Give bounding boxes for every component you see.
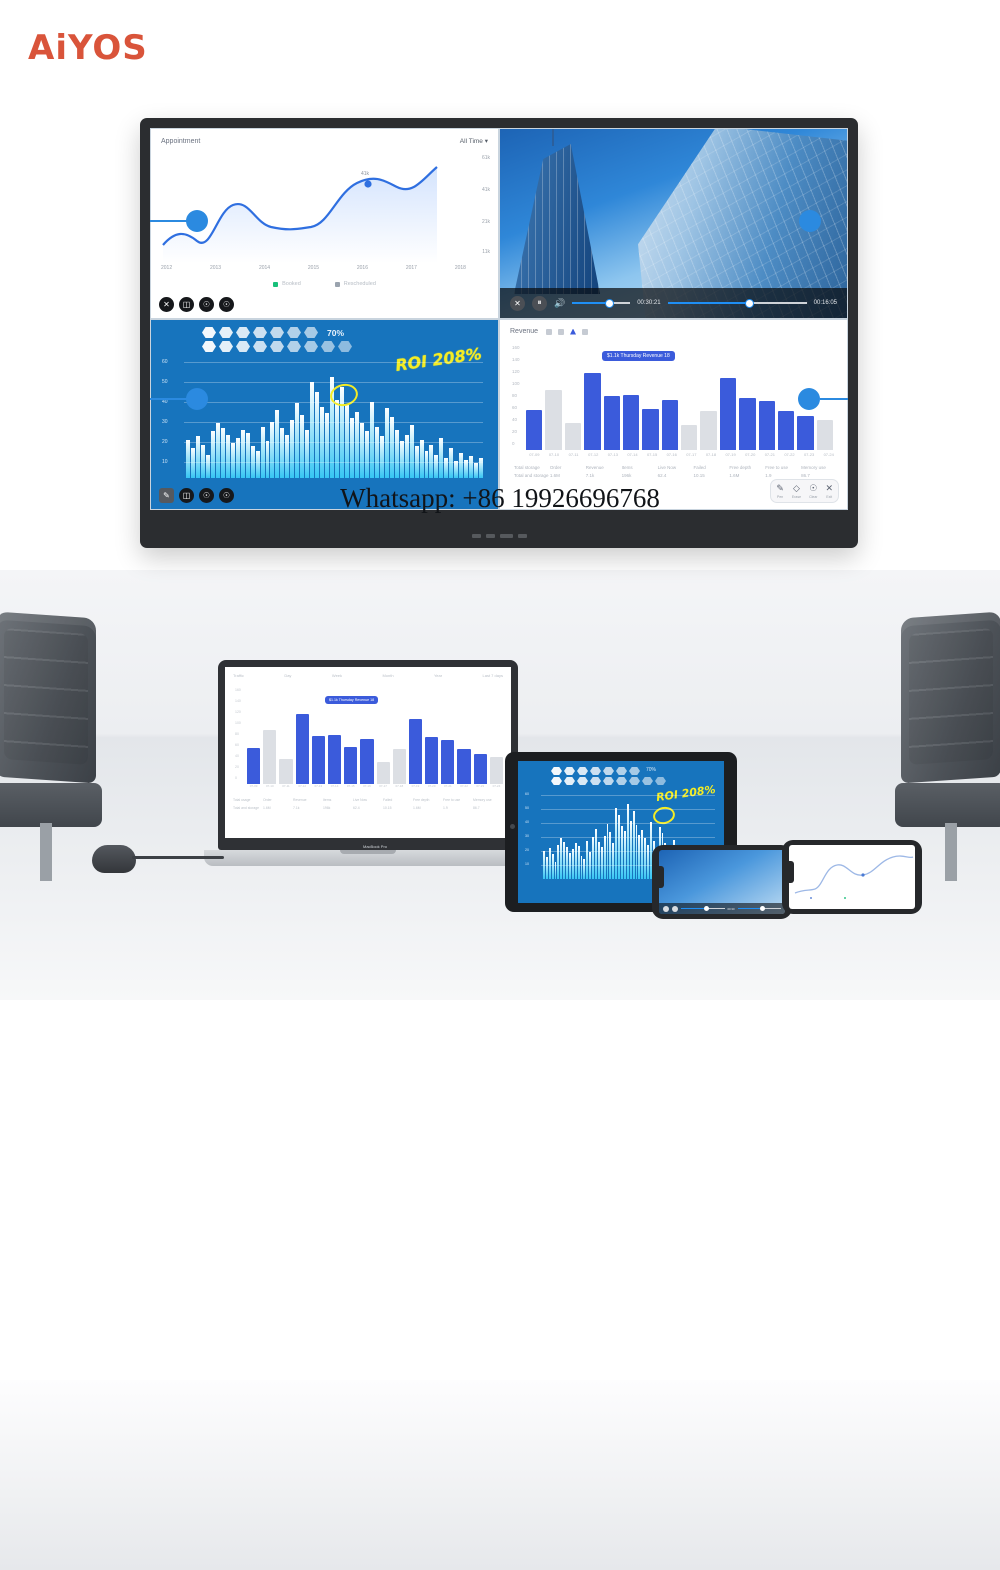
- laptop-revenue-bar: [360, 739, 373, 784]
- revenue-bar: [662, 400, 678, 450]
- laptop-y-tick: 160: [235, 688, 241, 692]
- legend-swatch-rescheduled: [335, 282, 340, 287]
- laptop-footer-label: Total usage: [233, 798, 263, 802]
- tablet-hex-row-bottom: [551, 777, 717, 785]
- phone-video-controls[interactable]: 00:30: [659, 903, 785, 914]
- roi-bar: [449, 448, 453, 478]
- pie-chart-icon[interactable]: [546, 329, 552, 335]
- roi-percent-label: 70%: [646, 767, 656, 775]
- roi-bar: [315, 392, 319, 478]
- x-tick: 2018: [455, 265, 466, 271]
- seek-knob[interactable]: [745, 299, 754, 308]
- tablet-roi-bar: [644, 838, 646, 879]
- phone-seek-slider[interactable]: [738, 908, 782, 910]
- chair-post: [40, 823, 52, 881]
- revenue-footer-label: Live Now: [658, 465, 694, 470]
- phone-notch: [789, 861, 794, 883]
- roi-bar: [256, 451, 260, 478]
- x-tick: 2016: [357, 265, 368, 271]
- laptop-revenue-bar: [490, 757, 503, 784]
- roi-bar: [390, 417, 394, 478]
- roi-plot: 605040302010: [160, 358, 489, 478]
- hex-cell: [642, 777, 653, 785]
- tablet-y-tick: 50: [525, 806, 529, 810]
- bezel-button[interactable]: [486, 534, 495, 538]
- office-chair-left: [0, 615, 102, 885]
- tablet-y-tick: 60: [525, 792, 529, 796]
- roi-bar: [266, 441, 270, 478]
- revenue-x-tick: 07-10: [546, 452, 563, 457]
- hex-cell: [236, 341, 250, 352]
- roi-bar: [474, 463, 478, 478]
- laptop-y-tick: 40: [235, 754, 239, 758]
- seek-fill: [738, 908, 762, 910]
- hex-cell: [655, 777, 666, 785]
- roi-bar: [206, 455, 210, 478]
- revenue-x-tick: 07-21: [762, 452, 779, 457]
- laptop-device[interactable]: Traffic Day Week Month Year Last 7 days …: [218, 660, 518, 850]
- laptop-footer-value-row: Total and storage1.6M7.1k196k62.410.151.…: [233, 806, 503, 810]
- tablet-roi-bar: [609, 832, 611, 879]
- hex-cell: [287, 341, 301, 352]
- legend-swatch-booked: [273, 282, 278, 287]
- roi-bar: [434, 455, 438, 478]
- laptop-x-tick: 07-10: [263, 784, 276, 788]
- antenna-image: [552, 128, 554, 146]
- roi-bar: [295, 403, 299, 478]
- laptop-footer-value: Total and storage: [233, 806, 263, 810]
- callout-dot: [799, 210, 821, 232]
- panel-screen[interactable]: Appointment All Time ▾ 41k: [150, 128, 848, 510]
- tablet-roi-bar: [598, 842, 600, 879]
- hex-cell: [202, 327, 216, 338]
- hex-cell: [270, 327, 284, 338]
- roi-gridline: [184, 402, 483, 403]
- laptop-footer-table: Total usageOrderRevenueItemsLive NowFail…: [233, 798, 503, 810]
- hex-cell: [603, 767, 614, 775]
- revenue-bar: [797, 416, 813, 450]
- tablet-roi-bar: [560, 838, 562, 879]
- laptop-revenue-bar: [409, 719, 422, 784]
- tablet-roi-bar: [546, 857, 548, 879]
- laptop-revenue-bar: [457, 749, 470, 784]
- appointment-window-toolbar[interactable]: ✕ ◫ ☉ ☉: [159, 297, 234, 312]
- laptop-lid: Traffic Day Week Month Year Last 7 days …: [218, 660, 518, 850]
- laptop-y-tick: 140: [235, 699, 241, 703]
- laptop-x-tick: 07-19: [409, 784, 422, 788]
- tablet-roi-bar: [612, 843, 614, 879]
- speaker-icon[interactable]: 🔊: [554, 298, 565, 309]
- phone-notch: [659, 866, 664, 888]
- revenue-footer-table: Total storageOrderRevenueItemsLive NowFa…: [514, 465, 837, 478]
- revenue-footer-value: 1.6M: [550, 473, 586, 478]
- roi-bar: [310, 382, 314, 478]
- volume-fill: [572, 302, 608, 304]
- tablet-roi-bar: [638, 835, 640, 879]
- laptop-footer-label: Free to use: [443, 798, 473, 802]
- hex-cell: [287, 327, 301, 338]
- video-total-time: 00:16:05: [814, 300, 837, 306]
- laptop-footer-value: 1.6M: [413, 806, 443, 810]
- revenue-x-tick: 07-15: [644, 452, 661, 457]
- revenue-footer-value: 196k: [622, 473, 658, 478]
- footer-value-row: Total and storage1.6M7.1k196k62.410.151.…: [514, 473, 837, 478]
- roi-gridline: [184, 382, 483, 383]
- tablet-roi-bar: [581, 856, 583, 879]
- revenue-y-tick: 40: [512, 417, 517, 422]
- laptop-x-tick: 07-09: [247, 784, 260, 788]
- appointment-highlight-point: [364, 180, 371, 187]
- roi-bar: [365, 431, 369, 478]
- laptop-revenue-bar: [393, 749, 406, 784]
- revenue-y-tick: 160: [512, 345, 520, 350]
- roi-bars: [186, 358, 483, 478]
- bezel-button[interactable]: [518, 534, 527, 538]
- callout-top-left: [150, 208, 220, 234]
- revenue-footer-value: 1.9: [765, 473, 801, 478]
- volume-knob[interactable]: [605, 299, 614, 308]
- appointment-header: Appointment All Time ▾: [161, 137, 488, 145]
- revenue-x-tick: 07-14: [624, 452, 641, 457]
- bezel-button-power[interactable]: [500, 534, 513, 538]
- tablet-y-tick: 40: [525, 820, 529, 824]
- roi-y-tick: 20: [162, 439, 168, 445]
- legend-item-rescheduled: Rescheduled: [335, 281, 376, 287]
- laptop-header-tabs[interactable]: Day: [284, 673, 291, 678]
- tablet-y-tick: 10: [525, 862, 529, 866]
- roi-bar: [425, 451, 429, 478]
- roi-bar: [300, 415, 304, 478]
- revenue-x-tick: 07-13: [605, 452, 622, 457]
- revenue-x-tick: 07-12: [585, 452, 602, 457]
- pause-icon[interactable]: [672, 906, 678, 912]
- phone-video-screen[interactable]: 00:30: [659, 850, 785, 914]
- roi-gridline: [184, 362, 483, 363]
- phone-chart-device[interactable]: [782, 840, 922, 914]
- table-icon[interactable]: [582, 329, 588, 335]
- quadrant-revenue-dashboard[interactable]: Revenue $1.1k Thursday Revenue 18 160140…: [499, 319, 848, 510]
- pause-button[interactable]: ⏸: [532, 296, 547, 311]
- hex-cell: [202, 341, 216, 352]
- laptop-revenue-bar: [263, 730, 276, 784]
- roi-y-tick: 60: [162, 359, 168, 365]
- panel-bezel-controls[interactable]: [150, 528, 848, 544]
- tablet-home-button[interactable]: [510, 824, 515, 829]
- revenue-footer-label: Free to use: [765, 465, 801, 470]
- time-range-dropdown[interactable]: All Time ▾: [460, 137, 488, 145]
- laptop-y-tick: 60: [235, 743, 239, 747]
- x-tick: 2014: [259, 265, 270, 271]
- revenue-x-tick: 07-23: [801, 452, 818, 457]
- tablet-roi-bar: [624, 831, 626, 879]
- laptop-dashboard-header: Traffic Day Week Month Year Last 7 days: [233, 673, 503, 678]
- revenue-bar: [545, 390, 561, 450]
- appointment-point-label: 41k: [361, 171, 370, 177]
- revenue-bars: [526, 345, 833, 450]
- hex-cell: [564, 777, 575, 785]
- tablet-hex-row-top: 70%: [551, 767, 717, 775]
- hex-cell: [304, 341, 318, 352]
- volume-knob[interactable]: [704, 906, 709, 911]
- revenue-x-axis: 07-0907-1007-1107-1207-1307-1407-1507-16…: [526, 452, 837, 457]
- roi-bar: [400, 441, 404, 478]
- laptop-header-range[interactable]: Last 7 days: [483, 673, 503, 678]
- tablet-roi-bar: [552, 854, 554, 879]
- chair-post: [945, 823, 957, 881]
- phone-current-time: 00:30: [728, 907, 735, 911]
- roi-bar: [439, 438, 443, 478]
- line-chart-icon[interactable]: [558, 329, 564, 335]
- hex-cell: [603, 777, 614, 785]
- x-tick: 2017: [406, 265, 417, 271]
- hex-cell: [629, 767, 640, 775]
- revenue-bar: [778, 411, 794, 450]
- laptop-revenue-bar: [328, 735, 341, 785]
- revenue-y-tick: 100: [512, 381, 520, 386]
- footer-label-row: Total storageOrderRevenueItemsLive NowFa…: [514, 465, 837, 470]
- seek-knob[interactable]: [760, 906, 765, 911]
- laptop-footer-value: 10.15: [383, 806, 413, 810]
- roi-bar: [305, 430, 309, 478]
- laptop-header-tabs[interactable]: Week: [332, 673, 342, 678]
- laptop-plot: $1.1k Thursday Revenue 18 16014012010080…: [247, 688, 503, 784]
- laptop-header-tabs[interactable]: Year: [434, 673, 442, 678]
- brand-logo: AiYOS: [28, 28, 148, 68]
- volume-slider[interactable]: [572, 302, 630, 304]
- revenue-footer-value: Total and storage: [514, 473, 550, 478]
- hex-cell: [577, 777, 588, 785]
- roi-bar: [454, 461, 458, 478]
- roi-bar: [275, 410, 279, 478]
- roi-y-tick: 50: [162, 379, 168, 385]
- revenue-x-tick: 07-24: [820, 452, 837, 457]
- roi-bar: [385, 408, 389, 478]
- laptop-x-tick: 07-16: [360, 784, 373, 788]
- revenue-footer-value: 10.15: [693, 473, 729, 478]
- laptop-footer-label: Order: [263, 798, 293, 802]
- computer-mouse[interactable]: [92, 845, 136, 873]
- chair-seat: [0, 783, 102, 827]
- roi-gridline: [184, 462, 483, 463]
- hex-cell: [616, 777, 627, 785]
- y-tick-0: 61k: [482, 155, 490, 161]
- laptop-x-axis: 07-0907-1007-1107-1207-1307-1407-1507-16…: [247, 784, 503, 788]
- tablet-roi-bar: [586, 841, 588, 879]
- laptop-revenue-bar: [344, 747, 357, 784]
- hex-cell: [321, 341, 335, 352]
- revenue-bar: [565, 423, 581, 451]
- laptop-y-tick: 120: [235, 710, 241, 714]
- laptop-x-tick: 07-12: [296, 784, 309, 788]
- y-tick-1: 41k: [482, 187, 490, 193]
- laptop-revenue-bar: [377, 762, 390, 785]
- roi-bar: [261, 427, 265, 479]
- roi-bar: [370, 402, 374, 478]
- bezel-button[interactable]: [472, 534, 481, 538]
- laptop-header-tabs[interactable]: Month: [382, 673, 393, 678]
- callout-line: [820, 398, 848, 400]
- roi-bar: [469, 456, 473, 478]
- hex-cell: [270, 341, 284, 352]
- chair-seat: [895, 783, 1000, 827]
- tablet-roi-bar: [557, 845, 559, 879]
- tablet-roi-bar: [633, 811, 635, 879]
- laptop-x-tick: 07-18: [393, 784, 406, 788]
- tablet-roi-bar: [621, 826, 623, 879]
- hex-cell: [219, 341, 233, 352]
- revenue-y-tick: 120: [512, 369, 520, 374]
- roi-bar: [211, 431, 215, 478]
- revenue-tooltip: $1.1k Thursday Revenue 18: [602, 351, 675, 361]
- laptop-footer-value: 196k: [323, 806, 353, 810]
- roi-bar: [290, 420, 294, 478]
- laptop-x-tick: 07-14: [328, 784, 341, 788]
- zoom-in-icon[interactable]: ☉: [219, 297, 234, 312]
- laptop-footer-value: 7.1k: [293, 806, 323, 810]
- revenue-footer-value: 86.7: [801, 473, 837, 478]
- revenue-x-tick: 07-09: [526, 452, 543, 457]
- laptop-footer-label: Revenue: [293, 798, 323, 802]
- hex-cell: [253, 327, 267, 338]
- roi-y-tick: 10: [162, 459, 168, 465]
- close-icon[interactable]: [663, 906, 669, 912]
- chart-type-switcher[interactable]: [546, 329, 588, 335]
- laptop-footer-value: 62.4: [353, 806, 383, 810]
- seek-fill: [668, 302, 749, 304]
- revenue-footer-label: Free depth: [729, 465, 765, 470]
- laptop-revenue-bar: [296, 714, 309, 784]
- phone-line-chart-svg: [789, 845, 915, 909]
- revenue-title: Revenue: [510, 328, 538, 335]
- laptop-x-tick: 07-11: [279, 784, 292, 788]
- zoom-out-icon[interactable]: ☉: [199, 297, 214, 312]
- laptop-footer-value: 1.6M: [263, 806, 293, 810]
- legend-label: Booked: [282, 281, 301, 287]
- time-range-label: All Time: [460, 138, 483, 145]
- revenue-footer-value: 7.1k: [586, 473, 622, 478]
- roi-bar: [410, 425, 414, 478]
- revenue-y-tick: 140: [512, 357, 520, 362]
- quadrant-roi-chart[interactable]: 70% ROI 208% 605040302010 ✎ ◫ ☉ ☉: [150, 319, 499, 510]
- phone-video-device[interactable]: 00:30: [652, 845, 792, 919]
- roi-bar: [236, 438, 240, 478]
- hex-cell: [629, 777, 640, 785]
- laptop-x-tick: 07-17: [377, 784, 390, 788]
- callout-bottom-left: [150, 386, 220, 412]
- tablet-roi-bar: [575, 843, 577, 879]
- close-icon[interactable]: ✕: [510, 296, 525, 311]
- laptop-footer-label: Live Now: [353, 798, 383, 802]
- revenue-bar: [739, 398, 755, 451]
- laptop-x-tick: 07-24: [490, 784, 503, 788]
- revenue-x-tick: 07-19: [722, 452, 739, 457]
- watermark-text: Whatsapp: +86 19926696768: [0, 483, 1000, 514]
- roi-bar: [350, 418, 354, 478]
- close-icon[interactable]: ✕: [159, 297, 174, 312]
- roi-y-tick: 30: [162, 419, 168, 425]
- revenue-bar: [623, 395, 639, 450]
- laptop-screen[interactable]: Traffic Day Week Month Year Last 7 days …: [225, 667, 511, 838]
- callout-dot: [186, 388, 208, 410]
- tablet-roi-bar: [604, 836, 606, 879]
- conference-table: [0, 1380, 1000, 1570]
- tablet-roi-bar: [627, 804, 629, 879]
- revenue-footer-label: Revenue: [586, 465, 622, 470]
- revenue-y-tick: 80: [512, 393, 517, 398]
- chair-back: [901, 612, 1000, 784]
- revenue-y-tick: 60: [512, 405, 517, 410]
- laptop-tooltip: $1.1k Thursday Revenue 18: [325, 696, 378, 704]
- revenue-bar: [526, 410, 542, 450]
- laptop-y-tick: 0: [235, 776, 237, 780]
- hex-cell: [590, 767, 601, 775]
- hex-cell: [577, 767, 588, 775]
- roi-bar: [360, 423, 364, 478]
- laptop-y-tick: 100: [235, 721, 241, 725]
- phone-volume-slider[interactable]: [681, 908, 725, 910]
- x-tick: 2012: [161, 265, 172, 271]
- roi-bar: [280, 428, 284, 478]
- video-control-bar[interactable]: ✕ ⏸ 🔊 00:30:21 00:16:05: [500, 288, 847, 318]
- revenue-footer-label: Memory use: [801, 465, 837, 470]
- laptop-footer-value: 86.7: [473, 806, 503, 810]
- revenue-bar: [584, 373, 600, 451]
- tablet-roi-bar: [647, 845, 649, 879]
- tablet-roi-bar: [615, 808, 617, 879]
- laptop-x-tick: 07-23: [474, 784, 487, 788]
- hex-cell: [551, 777, 562, 785]
- laptop-x-tick: 07-13: [312, 784, 325, 788]
- revenue-footer-label: Failed: [693, 465, 729, 470]
- tablet-roi-bar: [569, 853, 571, 879]
- laptop-x-tick: 07-21: [441, 784, 454, 788]
- callout-dot: [798, 388, 820, 410]
- fit-icon[interactable]: ◫: [179, 297, 194, 312]
- roi-gridline: [184, 422, 483, 423]
- hex-cell: [590, 777, 601, 785]
- laptop-footer-label: Free depth: [413, 798, 443, 802]
- roi-bar: [221, 428, 225, 478]
- phone-chart-screen[interactable]: [789, 845, 915, 909]
- roi-bar: [246, 433, 250, 478]
- roi-bar: [231, 443, 235, 478]
- bar-chart-icon[interactable]: [570, 329, 576, 335]
- hex-cell: [616, 767, 627, 775]
- revenue-bar: [700, 411, 716, 450]
- hex-cell: [551, 767, 562, 775]
- roi-bar: [459, 453, 463, 478]
- tablet-roi-bar: [563, 842, 565, 879]
- laptop-footer-value: 1.9: [443, 806, 473, 810]
- skyscraper-image: [514, 144, 600, 294]
- laptop-x-tick: 07-15: [344, 784, 357, 788]
- y-tick-2: 21k: [482, 219, 490, 225]
- appointment-x-axis: 2012 2013 2014 2015 2016 2017 2018: [161, 265, 488, 271]
- revenue-footer-value: 1.6M: [729, 473, 765, 478]
- revenue-bar: [720, 378, 736, 451]
- seek-slider[interactable]: [668, 302, 807, 304]
- laptop-revenue-bar: [425, 737, 438, 784]
- video-current-time: 00:30:21: [637, 300, 660, 306]
- laptop-footer-label-row: Total usageOrderRevenueItemsLive NowFail…: [233, 798, 503, 802]
- legend-item-booked: Booked: [273, 281, 301, 287]
- laptop-y-tick: 20: [235, 765, 239, 769]
- hex-cell: [564, 767, 575, 775]
- revenue-bar: [817, 420, 833, 450]
- mouse-cord: [132, 856, 224, 859]
- x-tick: 2013: [210, 265, 221, 271]
- tablet-gridline: [541, 823, 715, 824]
